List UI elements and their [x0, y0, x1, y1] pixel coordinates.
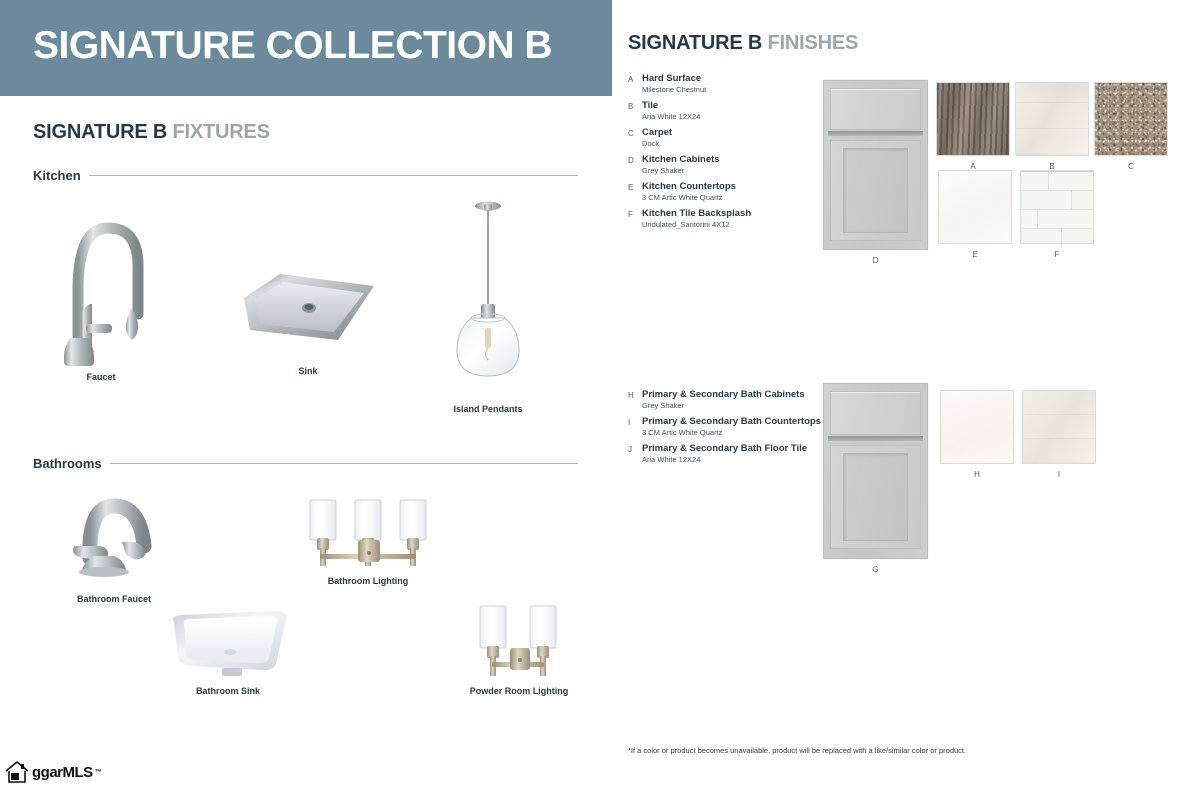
finishes-section-title: SIGNATURE B FINISHES: [628, 32, 858, 55]
fixtures-title-light: FIXTURES: [172, 121, 269, 143]
fixture-faucet: Faucet: [46, 196, 156, 396]
swatch-bath-floor-tile: I: [1022, 390, 1096, 479]
shaker-door-icon: [823, 80, 928, 250]
page-title: SIGNATURE COLLECTION B: [33, 26, 552, 65]
fixture-bathroom-faucet: Bathroom Faucet: [58, 484, 170, 614]
bathrooms-group-header: Bathrooms: [33, 456, 578, 471]
finish-detail: Aria White 12X24: [642, 455, 821, 464]
disclaimer-text: *If a color or product becomes unavailab…: [628, 746, 966, 755]
finish-item: J Primary & Secondary Bath Floor Tile Ar…: [628, 444, 821, 464]
fixture-caption: Bathroom Faucet: [77, 594, 151, 604]
fixture-sink: Sink: [238, 268, 378, 393]
subway-joint: [1037, 209, 1038, 228]
swatch-tile: B: [1015, 82, 1089, 171]
finish-letter: F: [628, 210, 633, 219]
finish-detail: 3 CM Artic White Quartz: [642, 193, 751, 202]
fixture-caption: Faucet: [86, 372, 115, 382]
swatch-tile-f: [1020, 170, 1094, 244]
swatch-label: I: [1022, 470, 1096, 479]
finish-name: Kitchen Countertops: [642, 182, 751, 193]
swatch-label: C: [1094, 162, 1168, 171]
mls-watermark: ggarMLS ™: [4, 760, 101, 784]
finish-name: Carpet: [642, 128, 751, 139]
fixture-bathroom-sink: Bathroom Sink: [160, 606, 296, 704]
vanity-light-3-icon: [300, 498, 436, 570]
finish-detail: Aria White 12X24: [642, 112, 751, 121]
finish-item: H Primary & Secondary Bath Cabinets Grey…: [628, 390, 821, 410]
finishes-list-bath: H Primary & Secondary Bath Cabinets Grey…: [628, 390, 821, 471]
finish-name: Kitchen Tile Backsplash: [642, 209, 751, 220]
finish-detail: Undulated_Santorini 4X12: [642, 220, 751, 229]
fixture-island-pendants: Island Pendants: [440, 196, 536, 421]
kitchen-group-header: Kitchen: [33, 168, 578, 183]
fixture-caption: Powder Room Lighting: [470, 686, 569, 696]
house-logo-icon: [4, 760, 30, 784]
finish-name: Tile: [642, 101, 751, 112]
kitchen-divider: [89, 175, 578, 176]
fixtures-title-dark: SIGNATURE B: [33, 121, 167, 143]
swatch-label: H: [940, 470, 1014, 479]
finish-letter: H: [628, 391, 634, 400]
finish-detail: Grey Shaker: [642, 166, 751, 175]
finish-letter: A: [628, 75, 633, 84]
swatch-tile-a: [936, 82, 1010, 156]
swatch-tile-e: [938, 170, 1012, 244]
finish-letter: B: [628, 102, 633, 111]
finish-detail: Dock: [642, 139, 751, 148]
swatch-carpet: C: [1094, 82, 1168, 171]
finish-letter: I: [628, 418, 630, 427]
finishes-title-dark: SIGNATURE B: [628, 32, 762, 54]
finishes-title-light: FINISHES: [767, 32, 858, 54]
fixture-caption: Bathroom Sink: [196, 686, 260, 696]
cabinet-door-bath: G: [823, 383, 928, 559]
finish-item: I Primary & Secondary Bath Countertops 3…: [628, 417, 821, 437]
finish-item: B Tile Aria White 12X24: [628, 101, 751, 121]
door-drawer: [830, 88, 921, 130]
shaker-door-icon: [823, 383, 928, 559]
mls-logo-text: ggarMLS: [32, 764, 93, 781]
mls-logo-tm: ™: [95, 769, 102, 776]
fixture-powder-room-lighting: Powder Room Lighting: [466, 604, 572, 702]
swatch-tile-i: [1022, 390, 1096, 464]
finish-letter: D: [628, 156, 634, 165]
finish-name: Primary & Secondary Bath Floor Tile: [642, 444, 821, 455]
subway-joint: [1048, 171, 1049, 190]
finish-name: Primary & Secondary Bath Countertops: [642, 417, 821, 428]
finish-letter: C: [628, 129, 634, 138]
fixture-caption: Island Pendants: [453, 404, 522, 414]
swatch-kitchen-countertop: E: [938, 170, 1012, 259]
kitchen-faucet-icon: [46, 196, 156, 366]
bathrooms-group-label: Bathrooms: [33, 456, 110, 471]
cabinet-door-kitchen: D: [823, 80, 928, 250]
finish-detail: Milestone Chestnut: [642, 85, 751, 94]
subway-joint: [1071, 190, 1072, 209]
swatch-tile-b: [1015, 82, 1089, 156]
swatch-tile-h: [940, 390, 1014, 464]
door-drawer: [830, 391, 921, 435]
finish-item: C Carpet Dock: [628, 128, 751, 148]
finish-name: Hard Surface: [642, 74, 751, 85]
swatch-hard-surface: A: [936, 82, 1010, 171]
door-panel: [830, 445, 921, 549]
swatch-tile-c: [1094, 82, 1168, 156]
swatch-label: G: [872, 565, 878, 574]
kitchen-group-label: Kitchen: [33, 168, 89, 183]
swatch-label: E: [938, 250, 1012, 259]
swatch-label: D: [873, 256, 879, 265]
finish-detail: 3 CM Artic White Quartz: [642, 428, 821, 437]
swatch-bath-countertop: H: [940, 390, 1014, 479]
pendant-light-icon: [440, 196, 536, 401]
door-panel-inner: [843, 453, 909, 541]
finish-letter: E: [628, 183, 633, 192]
fixtures-section-title: SIGNATURE B FIXTURES: [33, 121, 270, 144]
finish-letter: J: [628, 445, 632, 454]
finish-detail: Grey Shaker: [642, 401, 821, 410]
finish-item: D Kitchen Cabinets Grey Shaker: [628, 155, 751, 175]
subway-joint: [1061, 228, 1062, 247]
finish-name: Kitchen Cabinets: [642, 155, 751, 166]
swatch-kitchen-backsplash: F: [1020, 170, 1094, 259]
door-panel-inner: [843, 148, 909, 233]
fixture-bathroom-lighting: Bathroom Lighting: [300, 498, 436, 594]
bathrooms-divider: [110, 463, 578, 464]
document-page: SIGNATURE COLLECTION B SIGNATURE B FIXTU…: [0, 0, 1177, 786]
vanity-light-2-icon: [466, 604, 572, 680]
fixture-caption: Bathroom Lighting: [328, 576, 409, 586]
kitchen-sink-icon: [238, 268, 378, 358]
finish-item: E Kitchen Countertops 3 CM Artic White Q…: [628, 182, 751, 202]
door-gap: [828, 131, 923, 135]
door-panel: [830, 140, 921, 241]
finish-item: A Hard Surface Milestone Chestnut: [628, 74, 751, 94]
finishes-list-kitchen: A Hard Surface Milestone Chestnut B Tile…: [628, 74, 751, 236]
door-gap: [828, 436, 923, 440]
finish-item: F Kitchen Tile Backsplash Undulated_Sant…: [628, 209, 751, 229]
swatch-label: F: [1020, 250, 1094, 259]
fixture-caption: Sink: [298, 366, 317, 376]
bath-sink-icon: [160, 606, 296, 684]
finish-name: Primary & Secondary Bath Cabinets: [642, 390, 821, 401]
bath-faucet-icon: [58, 484, 170, 584]
